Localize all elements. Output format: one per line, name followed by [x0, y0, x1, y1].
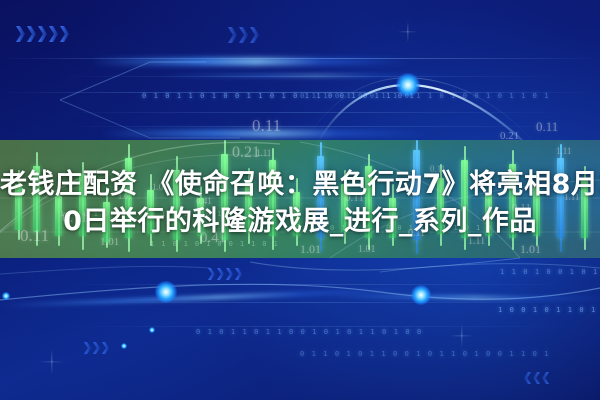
glow-node-small-left — [2, 292, 10, 300]
binary-strip: 0 1 0 1 1 0 1 1 0 0 1 0 1 0 1 1 0 1 0 0 — [196, 328, 423, 336]
chevron-right-icon — [102, 342, 109, 354]
chevron-cluster-top-left — [16, 26, 69, 42]
chevron-cluster-mid-left — [84, 342, 109, 354]
ticker-number: 0.21 — [500, 130, 519, 142]
grid-line — [0, 284, 600, 285]
ticker-number: 1.01 — [520, 242, 541, 257]
chevron-cluster-top-right — [228, 27, 259, 43]
ticker-number: 0.11 — [536, 119, 558, 135]
chevron-right-icon — [84, 342, 91, 354]
chevron-right-icon — [217, 268, 224, 280]
chevron-right-icon — [49, 26, 58, 42]
sparkle-bottom-center — [450, 324, 474, 348]
ticker-number: 0.11 — [252, 116, 281, 136]
chevron-right-icon — [250, 27, 259, 43]
glow-node-dot-a — [149, 327, 155, 333]
binary-strip: 1 0 0 1 0 1 1 0 1 0 0 1 1 0 1 0 1 1 0 0 … — [498, 306, 600, 314]
grid-line — [0, 112, 600, 113]
light-beam-bottom-b — [330, 295, 600, 301]
sparkle-bottom-left — [39, 349, 65, 375]
light-beam-upper — [90, 58, 410, 65]
sparkle-top-center — [397, 21, 419, 43]
grid-line — [0, 326, 600, 327]
ticker-number: 1.11 — [256, 148, 271, 158]
chevron-left-icon — [542, 372, 549, 384]
ticker-number: 1.01 — [358, 244, 376, 255]
ticker-number: 1.11 — [556, 146, 571, 156]
chevron-right-icon — [235, 268, 242, 280]
glow-node-right-beam — [411, 285, 431, 305]
glow-node-dot-b — [121, 343, 127, 349]
chevron-left-icon — [524, 372, 531, 384]
binary-strip: 0 1 1 0 1 0 0 1 1 0 1 1 0 1 0 0 1 0 1 1 … — [300, 92, 550, 100]
chevron-right-icon — [16, 26, 25, 42]
chevron-right-icon — [239, 27, 248, 43]
chevron-cluster-upper-band — [208, 268, 242, 280]
chevron-right-icon — [93, 342, 100, 354]
chevron-left-icon — [533, 372, 540, 384]
binary-strip: 0 1 1 0 1 0 1 1 0 0 1 0 1 1 0 1 0 0 1 1 … — [300, 350, 550, 358]
chevron-cluster-bottom-right — [524, 372, 549, 384]
binary-strip: 1 1 0 1 0 0 1 0 1 1 0 1 0 1 1 0 0 1 0 1 — [500, 268, 600, 276]
chevron-right-icon — [27, 26, 36, 42]
chevron-right-icon — [208, 268, 215, 280]
ticker-number: 1.01 — [300, 242, 321, 257]
headline-line-1: 老钱庄配资 《使命召唤：黑色行动7》将亮相8月2 — [0, 166, 600, 203]
headline-line-2: 0日举行的科隆游戏展_进行_系列_作品 — [0, 203, 600, 240]
chevron-right-icon — [60, 26, 69, 42]
headline: 老钱庄配资 《使命召唤：黑色行动7》将亮相8月2 0日举行的科隆游戏展_进行_系… — [0, 166, 600, 240]
chevron-right-icon — [228, 27, 237, 43]
glow-node-left-beam — [155, 281, 177, 303]
promotional-banner: 0 1 0 1 1 0 1 0 0 1 1 0 1 0 1 1 0 0 1 0 … — [0, 0, 600, 400]
grid-line — [0, 126, 600, 127]
chevron-right-icon — [226, 268, 233, 280]
chevron-right-icon — [38, 26, 47, 42]
